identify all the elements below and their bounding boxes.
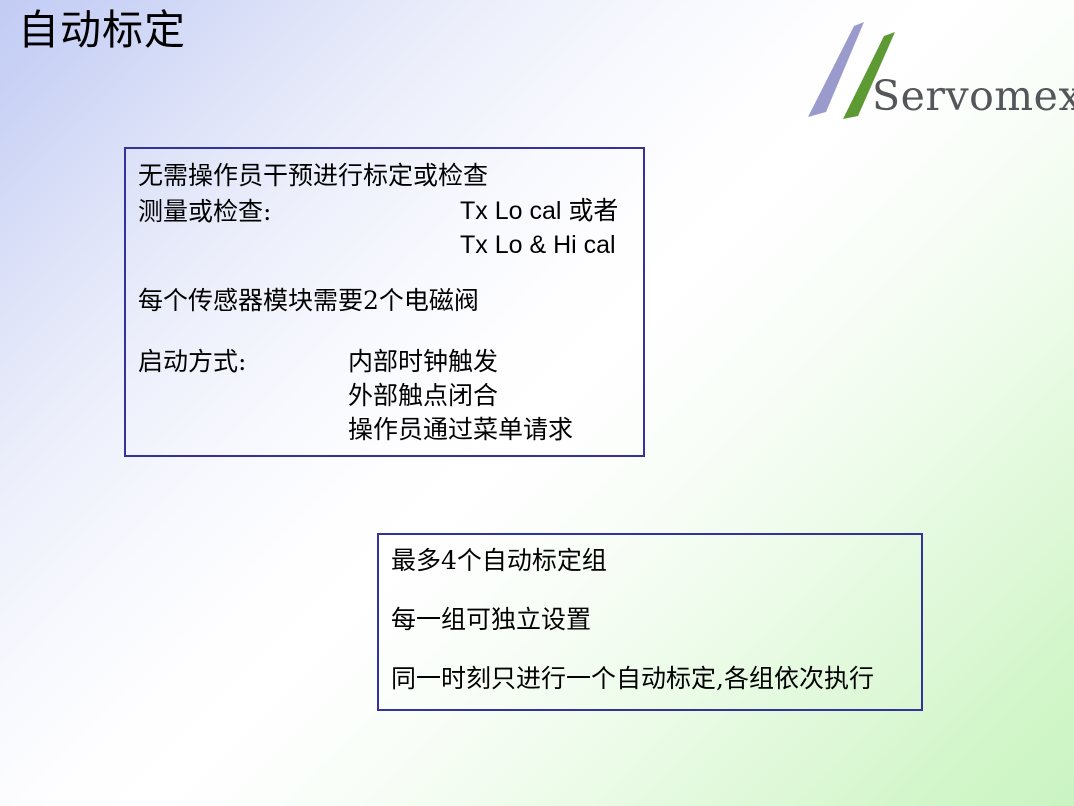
servomex-logo: Servomex [796,20,1064,132]
calibration-intro-text: 无需操作员干预进行标定或检查 [138,163,488,188]
groups-box-content: 最多4个自动标定组 每一组可独立设置 同一时刻只进行一个自动标定,各组依次执行 [379,535,921,709]
groups-max-count-text: 最多4个自动标定组 [391,548,607,573]
page-title: 自动标定 [18,7,186,54]
trigger-method-label: 启动方式: [138,349,246,374]
measure-check-label: 测量或检查: [138,199,271,224]
solenoid-valve-requirement-text: 每个传感器模块需要2个电磁阀 [138,288,479,313]
calibration-groups-box: 最多4个自动标定组 每一组可独立设置 同一时刻只进行一个自动标定,各组依次执行 [377,533,923,711]
measure-option-tx-lo-cal: Tx Lo cal 或者 [460,199,618,224]
groups-sequential-execution-text: 同一时刻只进行一个自动标定,各组依次执行 [391,666,874,691]
trigger-option-external-contact: 外部触点闭合 [348,383,498,408]
calibration-box-content: 无需操作员干预进行标定或检查 测量或检查: Tx Lo cal 或者 Tx Lo… [126,149,643,455]
trigger-option-internal-clock: 内部时钟触发 [348,349,498,374]
trigger-option-operator-menu: 操作员通过菜单请求 [348,417,573,442]
measure-option-tx-lo-hi-cal: Tx Lo & Hi cal [460,233,616,258]
groups-independent-config-text: 每一组可独立设置 [391,607,591,632]
slide-canvas: 自动标定 Servomex 无需操作员干预进行标定或检查 测量或检查: Tx L… [0,0,1074,806]
logo-wordmark: Servomex [872,72,1074,120]
calibration-info-box: 无需操作员干预进行标定或检查 测量或检查: Tx Lo cal 或者 Tx Lo… [124,147,645,457]
